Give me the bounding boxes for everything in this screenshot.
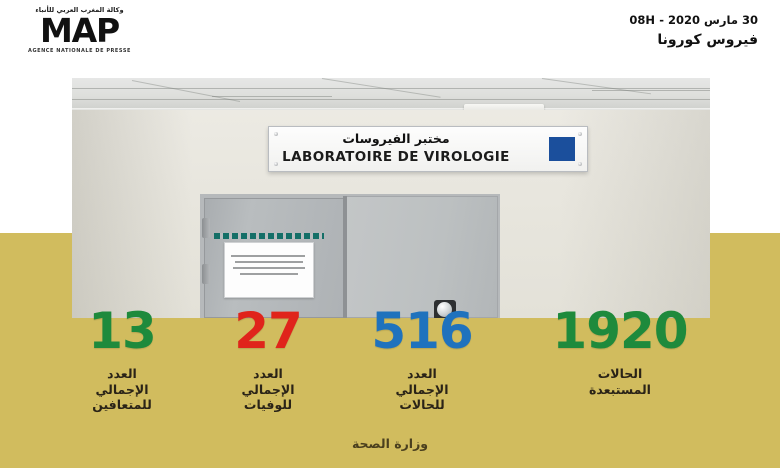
infographic-canvas: وكالة المغرب العربي للأنباء MAP AGENCE N… xyxy=(0,0,780,468)
stat-excluded-cases-label-line-1: الحالات xyxy=(520,366,720,382)
stat-confirmed-cases-label-line-3: للحالات xyxy=(352,397,492,413)
stat-excluded-cases: 1920 الحالات المستبعدة xyxy=(520,305,720,397)
stat-deaths: 27 العدد الإجمالي للوفيات xyxy=(208,305,328,413)
stat-recovered-label-line-1: العدد xyxy=(62,366,182,382)
stat-recovered-label: العدد الإجمالي للمتعافين xyxy=(62,366,182,413)
stat-excluded-cases-label-line-2: المستبعدة xyxy=(520,382,720,398)
stat-confirmed-cases: 516 العدد الإجمالي للحالات xyxy=(352,305,492,413)
stat-recovered-label-line-2: الإجمالي xyxy=(62,382,182,398)
stat-confirmed-cases-value: 516 xyxy=(352,305,492,357)
stat-deaths-label-line-3: للوفيات xyxy=(208,397,328,413)
stat-deaths-label-line-2: الإجمالي xyxy=(208,382,328,398)
stat-excluded-cases-label: الحالات المستبعدة xyxy=(520,366,720,397)
stat-confirmed-cases-label-line-1: العدد xyxy=(352,366,492,382)
stat-deaths-value: 27 xyxy=(208,305,328,357)
stat-confirmed-cases-label-line-2: الإجمالي xyxy=(352,382,492,398)
stat-confirmed-cases-label: العدد الإجمالي للحالات xyxy=(352,366,492,413)
ministry-of-health-label: وزارة الصحة xyxy=(0,436,780,451)
stat-deaths-label: العدد الإجمالي للوفيات xyxy=(208,366,328,413)
stat-recovered-value: 13 xyxy=(62,305,182,357)
stat-recovered: 13 العدد الإجمالي للمتعافين xyxy=(62,305,182,413)
stat-recovered-label-line-3: للمتعافين xyxy=(62,397,182,413)
stat-deaths-label-line-1: العدد xyxy=(208,366,328,382)
stat-excluded-cases-value: 1920 xyxy=(520,305,720,357)
statistics-row: 13 العدد الإجمالي للمتعافين 27 العدد الإ… xyxy=(0,0,780,468)
